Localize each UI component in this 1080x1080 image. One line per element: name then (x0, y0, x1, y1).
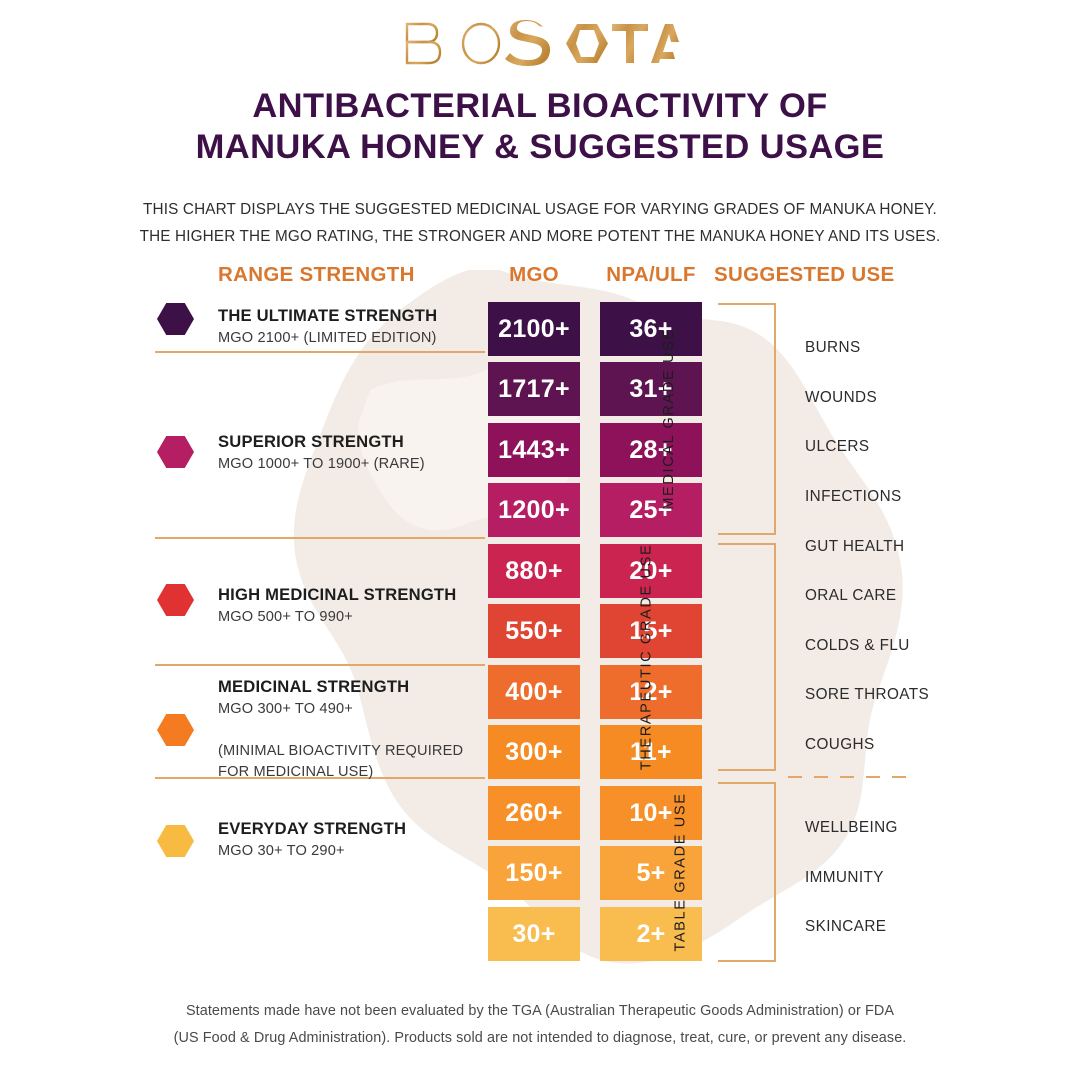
mgo-cell-2: 1717+ (488, 362, 580, 416)
hexagon-marker-1 (157, 302, 194, 336)
subtitle-line-2: THE HIGHER THE MGO RATING, THE STRONGER … (0, 223, 1080, 250)
mgo-cell-7: 400+ (488, 665, 580, 719)
column-header-suggested-use: SUGGESTED USE (714, 263, 894, 287)
bracket-cap-bottom (718, 960, 776, 962)
suggested-use-12: SKINCARE (805, 918, 886, 936)
brand-logo (0, 18, 1080, 70)
bracket-label: TABLE GRADE USE (672, 792, 688, 951)
npa-cell-4: 25+ (600, 483, 702, 537)
range-label-subtitle: MGO 300+ TO 490+ (218, 700, 463, 720)
suggested-use-1: BURNS (805, 339, 861, 357)
column-header-mgo: MGO (488, 263, 580, 287)
biosota-logo-mark (401, 18, 679, 70)
suggested-use-4: INFECTIONS (805, 488, 902, 506)
range-label-title: THE ULTIMATE STRENGTH (218, 305, 437, 327)
mgo-cell-10: 150+ (488, 846, 580, 900)
mgo-cell-4: 1200+ (488, 483, 580, 537)
range-label-title: HIGH MEDICINAL STRENGTH (218, 584, 456, 606)
npa-cell-1: 36+ (600, 302, 702, 356)
bracket-cap-top (718, 303, 776, 305)
group-divider-3 (155, 664, 485, 666)
range-label-title: EVERYDAY STRENGTH (218, 818, 406, 840)
mgo-cell-3: 1443+ (488, 423, 580, 477)
range-label-subtitle: MGO 500+ TO 990+ (218, 608, 456, 628)
suggested-use-3: ULCERS (805, 438, 869, 456)
range-label-block-3: HIGH MEDICINAL STRENGTHMGO 500+ TO 990+ (218, 584, 456, 627)
grade-bracket-2: THERAPEUTIC GRADE USE (718, 543, 776, 771)
mgo-cell-11: 30+ (488, 907, 580, 961)
range-label-title: SUPERIOR STRENGTH (218, 431, 425, 453)
footer-line-1: Statements made have not been evaluated … (0, 998, 1080, 1025)
npa-cell-2: 31+ (600, 362, 702, 416)
range-label-block-1: THE ULTIMATE STRENGTHMGO 2100+ (LIMITED … (218, 305, 437, 348)
group-divider-2 (155, 537, 485, 539)
bracket-vertical-line (774, 543, 776, 771)
title-line-2: MANUKA HONEY & SUGGESTED USAGE (0, 127, 1080, 168)
mgo-cell-1: 2100+ (488, 302, 580, 356)
suggested-use-5: GUT HEALTH (805, 538, 904, 556)
suggested-use-6: ORAL CARE (805, 587, 896, 605)
range-label-subtitle: MGO 30+ TO 290+ (218, 842, 406, 862)
footer-disclaimer: Statements made have not been evaluated … (0, 998, 1080, 1051)
mgo-cell-5: 880+ (488, 544, 580, 598)
mgo-cell-9: 260+ (488, 786, 580, 840)
bracket-label: MEDICAL GRADE USE (661, 328, 677, 510)
column-header-range-strength: RANGE STRENGTH (218, 263, 415, 287)
range-label-block-5: EVERYDAY STRENGTHMGO 30+ TO 290+ (218, 818, 406, 861)
suggested-use-2: WOUNDS (805, 389, 877, 407)
range-label-title: MEDICINAL STRENGTH (218, 676, 463, 698)
range-label-block-2: SUPERIOR STRENGTHMGO 1000+ TO 1900+ (RAR… (218, 431, 425, 474)
range-label-subtitle: MGO 1000+ TO 1900+ (RARE) (218, 455, 425, 475)
subtitle-line-1: THIS CHART DISPLAYS THE SUGGESTED MEDICI… (0, 196, 1080, 223)
title-line-1: ANTIBACTERIAL BIOACTIVITY OF (0, 86, 1080, 127)
mgo-cell-6: 550+ (488, 604, 580, 658)
range-label-note-line-2: FOR MEDICINAL USE) (218, 762, 463, 782)
bracket-label: THERAPEUTIC GRADE USE (639, 544, 655, 771)
suggested-use-9: COUGHS (805, 736, 875, 754)
bracket-cap-top (718, 782, 776, 784)
suggested-use-11: IMMUNITY (805, 869, 884, 887)
bracket-vertical-line (774, 303, 776, 535)
grade-bracket-3: TABLE GRADE USE (718, 782, 776, 962)
infographic-page: ANTIBACTERIAL BIOACTIVITY OF MANUKA HONE… (0, 0, 1080, 1080)
range-label-note: (MINIMAL BIOACTIVITY REQUIREDFOR MEDICIN… (218, 741, 463, 782)
bracket-cap-top (718, 543, 776, 545)
range-label-subtitle: MGO 2100+ (LIMITED EDITION) (218, 329, 437, 349)
group-divider-1 (155, 351, 485, 353)
column-header-npa-ulf: NPA/ULF (600, 263, 702, 287)
range-label-note-line-1: (MINIMAL BIOACTIVITY REQUIRED (218, 741, 463, 761)
bracket-cap-bottom (718, 533, 776, 535)
suggested-use-8: SORE THROATS (805, 686, 929, 704)
footer-line-2: (US Food & Drug Administration). Product… (0, 1025, 1080, 1052)
hexagon-marker-3 (157, 583, 194, 617)
npa-cell-3: 28+ (600, 423, 702, 477)
page-title: ANTIBACTERIAL BIOACTIVITY OF MANUKA HONE… (0, 86, 1080, 167)
hexagon-marker-5 (157, 824, 194, 858)
suggested-use-7: COLDS & FLU (805, 637, 910, 655)
mgo-cell-8: 300+ (488, 725, 580, 779)
hexagon-marker-4 (157, 713, 194, 747)
grade-bracket-1: MEDICAL GRADE USE (718, 303, 776, 535)
subtitle: THIS CHART DISPLAYS THE SUGGESTED MEDICI… (0, 196, 1080, 250)
range-label-block-4: MEDICINAL STRENGTHMGO 300+ TO 490+(MINIM… (218, 676, 463, 782)
suggested-use-10: WELLBEING (805, 819, 898, 837)
table-grade-dashed-separator (788, 776, 918, 778)
bracket-cap-bottom (718, 769, 776, 771)
bracket-vertical-line (774, 782, 776, 962)
hexagon-marker-2 (157, 435, 194, 469)
